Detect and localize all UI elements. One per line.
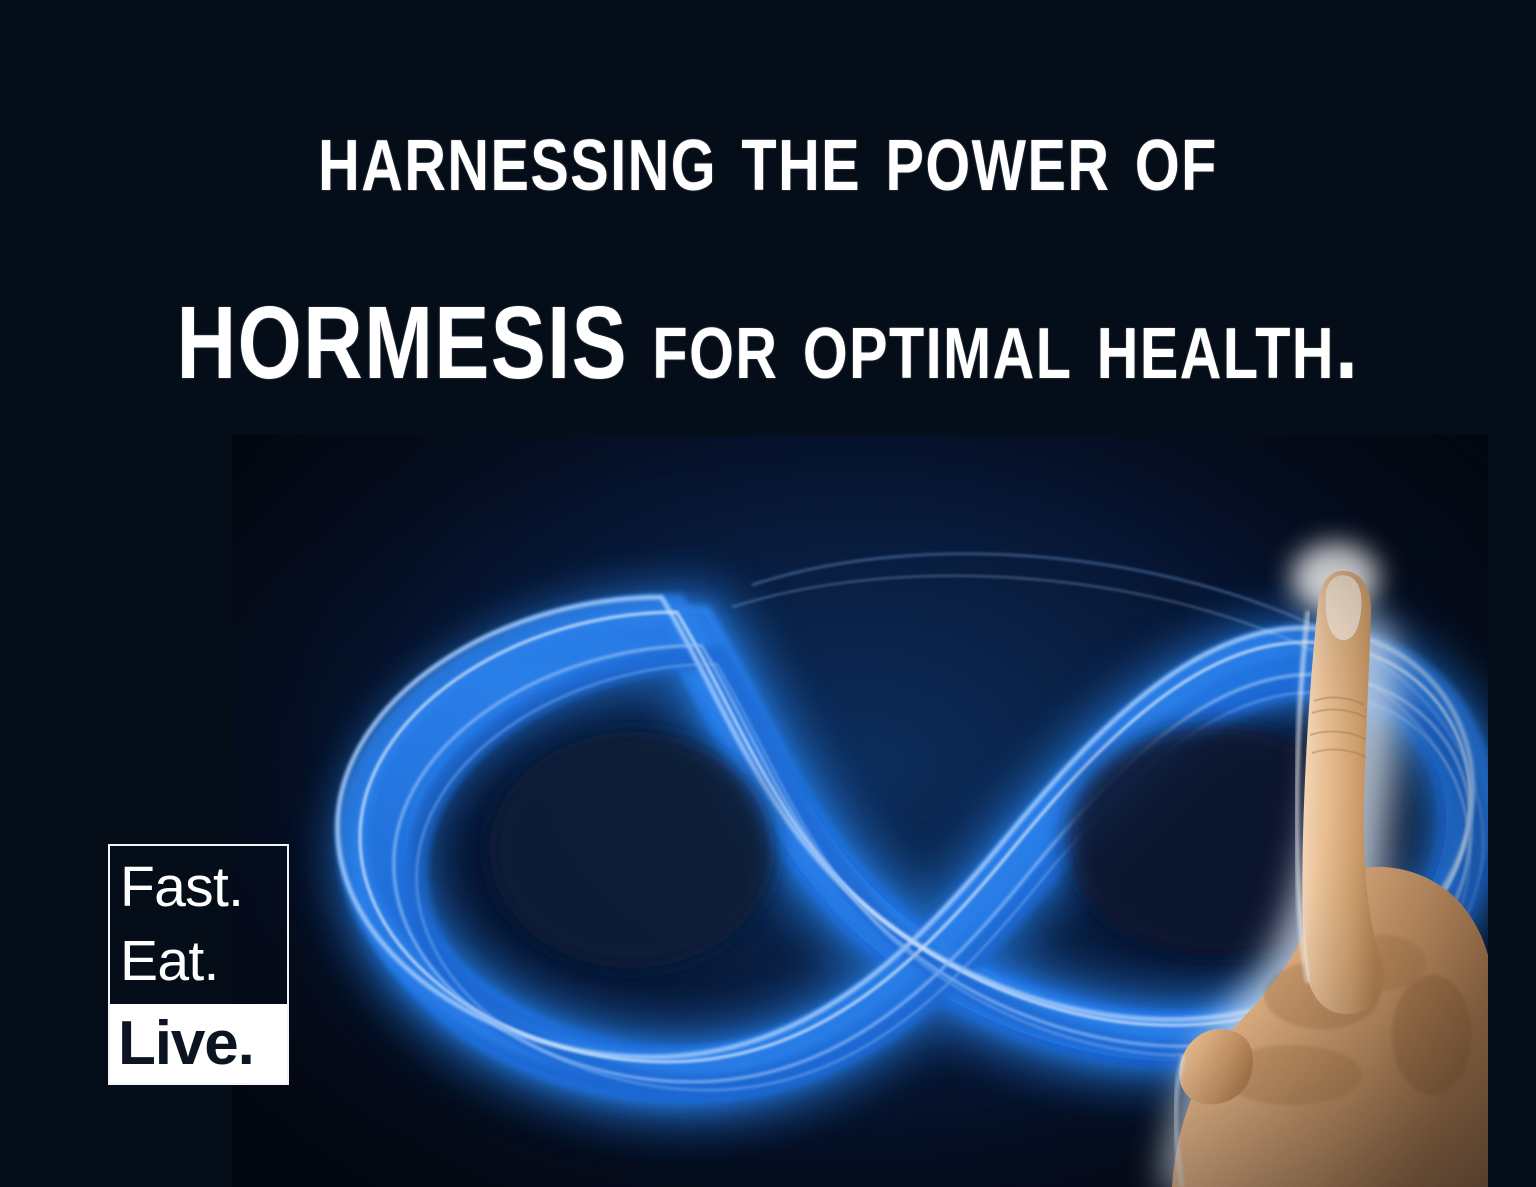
headline-keyword-hormesis: Hormesis: [177, 285, 628, 400]
logo-line-fast: Fast.: [120, 850, 277, 924]
infinity-photo-panel: [232, 435, 1488, 1187]
headline-line-2-rest: for optimal health.: [628, 285, 1359, 400]
poster-canvas: Harnessing the Power of Hormesis for opt…: [0, 0, 1536, 1187]
fingernail: [1326, 575, 1362, 640]
headline-line-1: Harnessing the Power of: [154, 96, 1383, 214]
logo-bottom-block: Live.: [110, 1004, 287, 1083]
logo-line-eat: Eat.: [120, 924, 277, 998]
page-title: Harnessing the Power of Hormesis for opt…: [0, 96, 1536, 402]
logo-top-block: Fast. Eat.: [110, 846, 287, 1006]
logo-line-live: Live.: [118, 1011, 254, 1077]
headline-line-2: Hormesis for optimal health.: [154, 284, 1383, 402]
brand-logo[interactable]: Fast. Eat. Live.: [108, 844, 289, 1085]
pointing-hand: [232, 435, 1488, 1187]
